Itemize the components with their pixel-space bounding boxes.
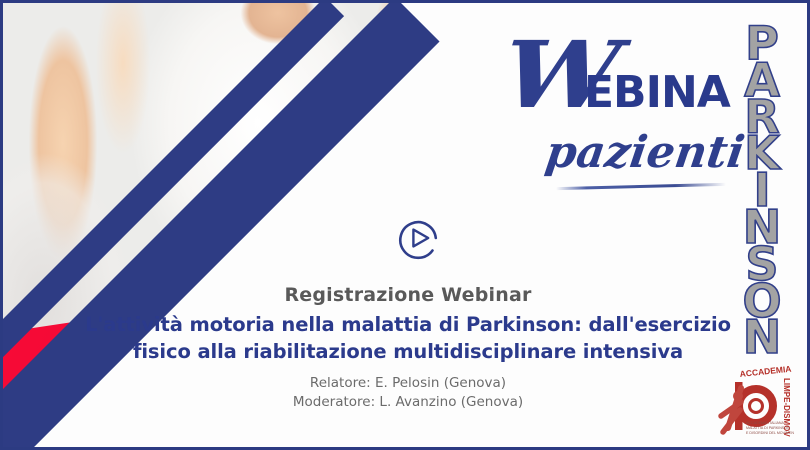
accademia-subtitle-3: E DISORDINI DEL MOVIMENTO [746, 431, 794, 435]
play-button[interactable] [392, 212, 444, 264]
accademia-subtitle-1: ACCADEMIA ITALIANA [746, 421, 784, 425]
webinar-poster: P A R K I N S O N W EBINA pazienti Regis… [0, 0, 810, 450]
accademia-subtitle-2: MALATTIA DI PARKINSON [746, 426, 790, 430]
accademia-logo-icon: ACCADEMIA LIMPE-DISMOV ACCADEMIA ITALIAN… [710, 366, 794, 446]
pazienti-script-text: pazienti [543, 131, 747, 175]
webinar-wordmark-text: EBINA [584, 71, 730, 115]
poster-text-block: Registrazione Webinar L'attività motoria… [3, 284, 810, 412]
pazienti-underline-swoosh [556, 183, 726, 190]
kicker-label: Registrazione Webinar [3, 284, 810, 306]
play-circle-icon [392, 212, 444, 264]
page-title-line-2: fisico alla riabilitazione multidiscipli… [3, 339, 810, 366]
accademia-limpe-dismov-logo: ACCADEMIA LIMPE-DISMOV ACCADEMIA ITALIAN… [710, 366, 794, 446]
page-title-line-1: L'attività motoria nella malattia di Par… [3, 312, 810, 339]
webinar-wordmark: W EBINA pazienti [508, 35, 740, 175]
moderator-credit: Moderatore: L. Avanzino (Genova) [3, 393, 810, 412]
speaker-credit: Relatore: E. Pelosin (Genova) [3, 374, 810, 393]
